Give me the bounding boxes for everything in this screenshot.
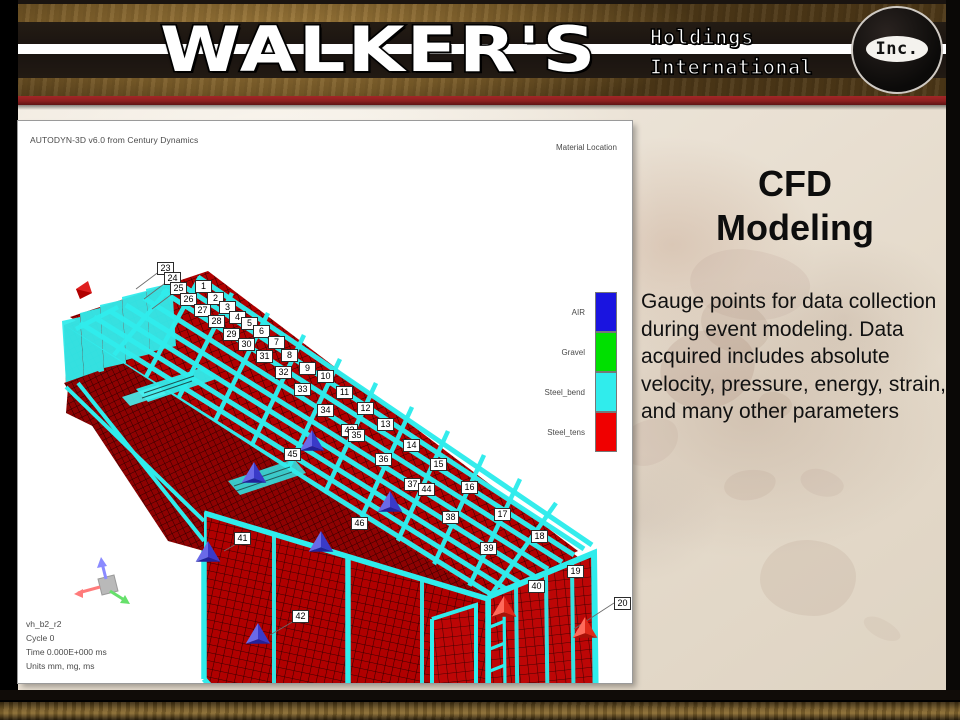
gauge-point-label: 30 <box>238 338 255 351</box>
legend-label-steel-tens: Steel_tens <box>508 428 585 437</box>
gauge-point-label: 39 <box>480 542 497 555</box>
inc-badge-label: Inc. <box>866 36 928 62</box>
gauge-point-label: 18 <box>531 530 548 543</box>
gauge-point-label: 28 <box>208 315 225 328</box>
legend-swatch-steel-tens <box>595 412 617 452</box>
gauge-point-label: 10 <box>317 370 334 383</box>
slide-title-line1: CFD <box>645 162 945 206</box>
axis-triad-icon <box>70 553 140 623</box>
legend-label-steel-bend: Steel_bend <box>508 388 585 397</box>
slide-title-line2: Modeling <box>645 206 945 250</box>
gauge-point-label: 13 <box>377 418 394 431</box>
slide-title: CFD Modeling <box>645 162 945 250</box>
cfd-cycle: Cycle 0 <box>26 631 107 645</box>
header-left-edge <box>0 0 18 96</box>
cfd-model-name: vh_b2_r2 <box>26 617 107 631</box>
legend-swatch-gravel <box>595 332 617 372</box>
gauge-point-label: 31 <box>256 350 273 363</box>
gauge-point-label: 19 <box>567 565 584 578</box>
gauge-point-label: 38 <box>442 511 459 524</box>
company-subtitle-holdings: Holdings <box>650 22 865 52</box>
legend-label-gravel: Gravel <box>515 348 585 357</box>
gauge-point-label: 45 <box>284 448 301 461</box>
slide-bottom-gold-bar <box>0 702 960 720</box>
legend-swatch-air <box>595 292 617 332</box>
gauge-point-label: 42 <box>292 610 309 623</box>
header-right-edge <box>946 0 960 96</box>
gauge-point-label: 32 <box>275 366 292 379</box>
gauge-point-label: 33 <box>294 383 311 396</box>
gauge-point-label: 41 <box>234 532 251 545</box>
cfd-time: Time 0.000E+000 ms <box>26 645 107 659</box>
cfd-canvas: AUTODYN-3D v6.0 from Century Dynamics <box>18 121 632 683</box>
gauge-point-label: 20 <box>614 597 631 610</box>
slide-left-border <box>0 96 18 720</box>
gauge-point-label: 35 <box>348 429 365 442</box>
gauge-point-label: 8 <box>281 349 298 362</box>
gauge-point-label: 14 <box>403 439 420 452</box>
header-accent-shadow <box>18 105 960 110</box>
gauge-point-label: 36 <box>375 453 392 466</box>
header-top-rule <box>0 0 960 4</box>
gauge-point-label: 40 <box>528 580 545 593</box>
slide-right-border <box>946 96 960 720</box>
cfd-units: Units mm, mg, ms <box>26 659 107 673</box>
world-map-watermark-australia <box>760 540 856 616</box>
cfd-simulation-panel: AUTODYN-3D v6.0 from Century Dynamics <box>17 120 633 684</box>
company-subtitle-international: International <box>650 52 865 82</box>
gauge-point-label: 7 <box>268 336 285 349</box>
legend-label-air: AIR <box>515 308 585 317</box>
gauge-point-label: 15 <box>430 458 447 471</box>
slide-body-text: Gauge points for data collection during … <box>641 288 946 426</box>
gauge-point-label: 16 <box>461 481 478 494</box>
legend-title: Material Location <box>556 143 617 152</box>
gauge-point-label: 9 <box>299 362 316 375</box>
gauge-point-label: 11 <box>336 386 353 399</box>
gauge-point-label: 34 <box>317 404 334 417</box>
gauge-point-label: 17 <box>494 508 511 521</box>
gauge-point-label: 46 <box>351 517 368 530</box>
company-wordmark: WALKER'S <box>160 16 598 84</box>
cfd-footer-info: vh_b2_r2 Cycle 0 Time 0.000E+000 ms Unit… <box>26 617 107 673</box>
presentation-slide: WALKER'S Holdings International Inc. AUT… <box>0 0 960 720</box>
gauge-point-label: 12 <box>357 402 374 415</box>
gauge-point-label: 44 <box>418 483 435 496</box>
header-accent-bar <box>18 96 960 105</box>
legend-swatch-steel-bend <box>595 372 617 412</box>
brand-header: WALKER'S Holdings International Inc. <box>0 0 960 96</box>
